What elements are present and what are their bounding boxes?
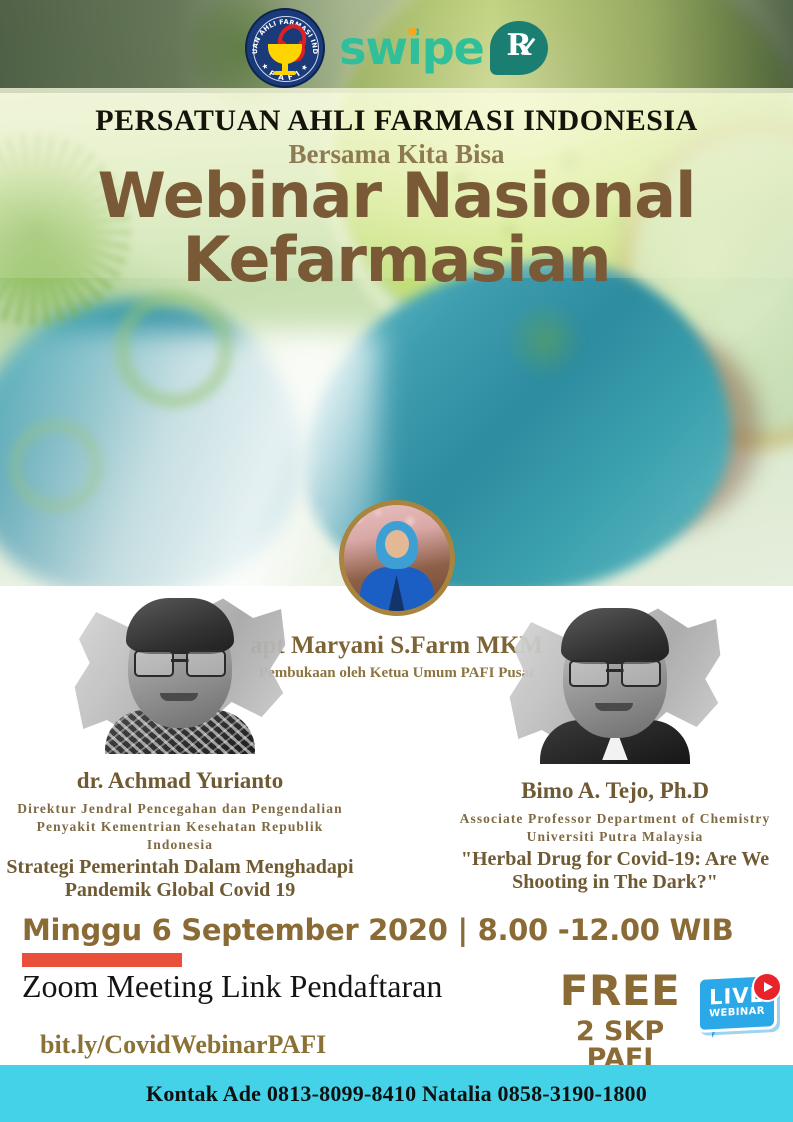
- swipe-wordmark: swipe: [339, 25, 484, 71]
- mouth: [595, 703, 633, 711]
- registration-link[interactable]: bit.ly/CovidWebinarPAFI: [40, 1030, 326, 1060]
- right-speaker-head: [551, 608, 679, 760]
- mouth: [160, 693, 198, 701]
- red-accent-bar: [22, 953, 182, 967]
- right-speaker: Bimo A. Tejo, Ph.D Associate Professor D…: [440, 590, 790, 894]
- skp-credits-label: 2 SKP PAFI: [540, 1018, 700, 1072]
- right-speaker-portrait: [508, 590, 723, 770]
- rx-speech-bubble-icon: R: [490, 21, 548, 75]
- play-button-icon: [752, 972, 782, 1002]
- swiperx-logo: swipe R: [339, 21, 548, 75]
- registration-label: Zoom Meeting Link Pendaftaran: [22, 968, 442, 1005]
- contact-text: Kontak Ade 0813-8099-8410 Natalia 0858-3…: [146, 1081, 647, 1107]
- hair: [126, 598, 234, 654]
- hair: [561, 608, 669, 664]
- left-speaker-affiliation: Direktur Jendral Pencegahan dan Pengenda…: [5, 800, 355, 854]
- title-line-1: Webinar Nasional: [98, 159, 696, 232]
- glasses-icon: [569, 660, 661, 684]
- left-speaker-portrait: [73, 580, 288, 760]
- right-speaker-affiliation: Associate Professor Department of Chemis…: [440, 810, 790, 846]
- price-block: FREE 2 SKP PAFI: [540, 970, 700, 1072]
- glasses-lens-left: [134, 650, 174, 677]
- pafi-bowl-base: [274, 71, 296, 75]
- event-datetime: Minggu 6 September 2020 | 8.00 -12.00 WI…: [22, 913, 733, 947]
- right-speaker-name: Bimo A. Tejo, Ph.D: [440, 778, 790, 804]
- webinar-poster: PERSATUAN AHLI FARMASI INDONESIA ★ P A F…: [0, 0, 793, 1122]
- title-line-2: Kefarmasian: [0, 228, 793, 292]
- avatar-face: [385, 530, 409, 558]
- left-speaker: dr. Achmad Yurianto Direktur Jendral Pen…: [5, 580, 355, 901]
- contact-footer: Kontak Ade 0813-8099-8410 Natalia 0858-3…: [0, 1065, 793, 1122]
- virus-ring-icon: [115, 290, 233, 408]
- live-webinar-badge: LIVE WEBINAR: [698, 972, 784, 1044]
- left-speaker-topic: Strategi Pemerintah Dalam Menghadapi Pan…: [5, 856, 355, 902]
- glasses-lens-right: [186, 650, 226, 677]
- glasses-lens-left: [569, 660, 609, 687]
- virus-ring-small-icon: [10, 420, 102, 512]
- avatar: [339, 500, 455, 616]
- left-speaker-name: dr. Achmad Yurianto: [5, 768, 355, 794]
- right-speaker-topic: "Herbal Drug for Covid-19: Are We Shooti…: [440, 848, 790, 894]
- organization-name: PERSATUAN AHLI FARMASI INDONESIA: [0, 104, 793, 138]
- play-triangle-icon: [764, 982, 773, 992]
- glasses-icon: [134, 650, 226, 674]
- page-title: Webinar Nasional Kefarmasian: [0, 164, 793, 292]
- pafi-logo: PERSATUAN AHLI FARMASI INDONESIA ★ P A F…: [245, 8, 325, 88]
- price-free-label: FREE: [540, 970, 700, 1012]
- glasses-lens-right: [621, 660, 661, 687]
- virus-particle-mid-icon: [505, 300, 585, 380]
- left-speaker-head: [116, 598, 244, 750]
- logo-row: PERSATUAN AHLI FARMASI INDONESIA ★ P A F…: [0, 8, 793, 88]
